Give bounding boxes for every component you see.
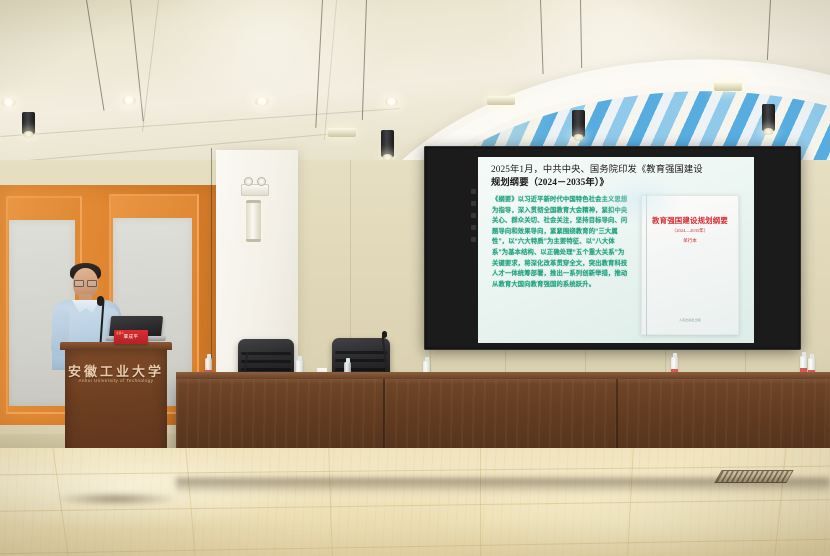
ceiling-downlight xyxy=(385,98,398,106)
display-side-buttons[interactable] xyxy=(471,189,476,259)
podium-microphone-head xyxy=(97,296,104,306)
floor-tile-seam xyxy=(480,448,481,556)
ceiling-downlight xyxy=(1,98,16,107)
wall-sconce-light xyxy=(246,200,261,242)
arch-recessed-light xyxy=(328,128,356,137)
slide-content: 2025年1月，中共中央、国务院印发《教育强国建设 规划纲要（2024－2035… xyxy=(478,157,754,343)
display-glass: 2025年1月，中共中央、国务院印发《教育强国建设 规划纲要（2024－2035… xyxy=(427,149,798,347)
pendant-spotlight xyxy=(22,112,35,134)
ceiling-downlight xyxy=(255,97,269,106)
screen-glare xyxy=(596,175,684,225)
arch-recessed-light xyxy=(714,82,742,91)
table-shadow xyxy=(176,478,830,494)
arch-recessed-light xyxy=(487,96,515,105)
lectern-shadow xyxy=(54,492,178,506)
emergency-light-icon xyxy=(241,184,269,196)
speaker-name-plate: 主讲人 覃成平 xyxy=(114,330,148,344)
desk-microphone-head xyxy=(382,331,387,338)
pendant-spotlight xyxy=(381,130,394,157)
pendant-spotlight xyxy=(762,104,775,131)
book-subtitle: （2024—2035年） xyxy=(647,228,733,234)
pendant-spotlight xyxy=(572,110,585,137)
name-plate-label: 主讲人 xyxy=(116,331,124,335)
presentation-display[interactable]: 2025年1月，中共中央、国务院印发《教育强国建设 规划纲要（2024－2035… xyxy=(424,146,801,350)
speaker-glasses xyxy=(74,280,97,285)
university-name-en: Anhui University of Technology xyxy=(65,378,167,383)
ceiling-downlight xyxy=(122,96,136,105)
book-edition: 单行本 xyxy=(647,238,733,244)
lecture-hall-photo: 2025年1月，中共中央、国务院印发《教育强国建设 规划纲要（2024－2035… xyxy=(0,0,830,556)
book-publisher: 人民出版社出版 xyxy=(647,317,733,322)
